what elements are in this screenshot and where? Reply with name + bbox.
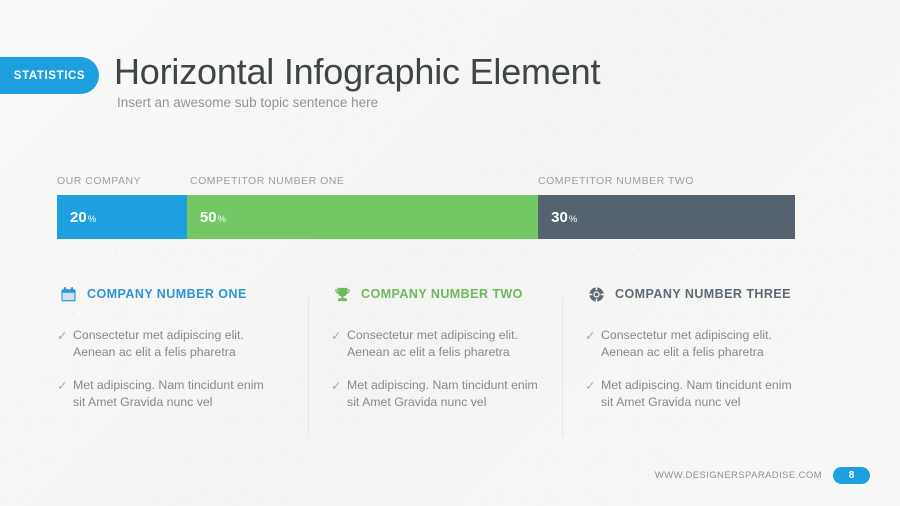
feature-column-one-title: COMPANY NUMBER ONE bbox=[87, 287, 247, 301]
feature-column-three-header: COMPANY NUMBER THREE bbox=[585, 283, 793, 305]
list-item: ✓ Consectetur met adipiscing elit. Aenea… bbox=[585, 327, 793, 360]
list-item-text: Consectetur met adipiscing elit. Aenean … bbox=[347, 327, 518, 360]
list-item-text: Met adipiscing. Nam tincidunt enim sit A… bbox=[601, 377, 792, 410]
check-icon: ✓ bbox=[331, 377, 347, 410]
stacked-bar-chart: OUR COMPANY COMPETITOR NUMBER ONE COMPET… bbox=[57, 175, 795, 239]
bar-category-labels: OUR COMPANY COMPETITOR NUMBER ONE COMPET… bbox=[57, 175, 795, 195]
page-number-badge: 8 bbox=[833, 467, 870, 484]
bar-label-competitor-number-one: COMPETITOR NUMBER ONE bbox=[190, 175, 344, 187]
bar-segment-value-competitor-number-two: 30% bbox=[551, 209, 577, 226]
feature-column-one: COMPANY NUMBER ONE ✓ Consectetur met adi… bbox=[57, 283, 309, 438]
list-item-text: Consectetur met adipiscing elit. Aenean … bbox=[73, 327, 244, 360]
slide-footer: WWW.DESIGNERSPARADISE.COM 8 bbox=[655, 467, 870, 484]
feature-column-three-title: COMPANY NUMBER THREE bbox=[615, 287, 791, 301]
bar-label-competitor-number-two: COMPETITOR NUMBER TWO bbox=[538, 175, 694, 187]
list-item: ✓ Met adipiscing. Nam tincidunt enim sit… bbox=[57, 377, 285, 410]
page-title: Horizontal Infographic Element bbox=[114, 51, 600, 93]
page-number: 8 bbox=[849, 470, 855, 481]
check-icon: ✓ bbox=[57, 377, 73, 410]
feature-column-two: COMPANY NUMBER TWO ✓ Consectetur met adi… bbox=[309, 283, 563, 438]
slide-header: STATISTICS Horizontal Infographic Elemen… bbox=[0, 57, 900, 127]
bar-segment-our-company[interactable]: 20% bbox=[57, 195, 187, 239]
feature-column-one-header: COMPANY NUMBER ONE bbox=[57, 283, 285, 305]
list-item-text: Met adipiscing. Nam tincidunt enim sit A… bbox=[347, 377, 538, 410]
check-icon: ✓ bbox=[57, 327, 73, 360]
statistics-badge: STATISTICS bbox=[0, 57, 99, 94]
check-icon: ✓ bbox=[331, 327, 347, 360]
list-item: ✓ Met adipiscing. Nam tincidunt enim sit… bbox=[331, 377, 539, 410]
feature-column-three-bullets: ✓ Consectetur met adipiscing elit. Aenea… bbox=[585, 327, 793, 410]
list-item-text: Met adipiscing. Nam tincidunt enim sit A… bbox=[73, 377, 264, 410]
bar-segment-competitor-number-one[interactable]: 50% bbox=[187, 195, 538, 239]
list-item: ✓ Consectetur met adipiscing elit. Aenea… bbox=[57, 327, 285, 360]
footer-url[interactable]: WWW.DESIGNERSPARADISE.COM bbox=[655, 470, 822, 481]
feature-column-one-bullets: ✓ Consectetur met adipiscing elit. Aenea… bbox=[57, 327, 285, 410]
bar-segment-competitor-number-two[interactable]: 30% bbox=[538, 195, 795, 239]
feature-column-two-title: COMPANY NUMBER TWO bbox=[361, 287, 523, 301]
bar-track: 20% 50% 30% bbox=[57, 195, 795, 239]
feature-column-three: COMPANY NUMBER THREE ✓ Consectetur met a… bbox=[563, 283, 817, 438]
slide-canvas: STATISTICS Horizontal Infographic Elemen… bbox=[0, 0, 900, 506]
list-item: ✓ Met adipiscing. Nam tincidunt enim sit… bbox=[585, 377, 793, 410]
page-subtitle: Insert an awesome sub topic sentence her… bbox=[117, 95, 378, 110]
trophy-icon bbox=[331, 283, 353, 305]
bar-segment-value-our-company: 20% bbox=[70, 209, 96, 226]
statistics-badge-label: STATISTICS bbox=[14, 70, 85, 82]
feature-column-two-header: COMPANY NUMBER TWO bbox=[331, 283, 539, 305]
check-icon: ✓ bbox=[585, 327, 601, 360]
feature-columns: COMPANY NUMBER ONE ✓ Consectetur met adi… bbox=[57, 283, 817, 438]
list-item: ✓ Consectetur met adipiscing elit. Aenea… bbox=[331, 327, 539, 360]
feature-column-two-bullets: ✓ Consectetur met adipiscing elit. Aenea… bbox=[331, 327, 539, 410]
bar-label-our-company: OUR COMPANY bbox=[57, 175, 141, 187]
lifebuoy-icon bbox=[585, 283, 607, 305]
list-item-text: Consectetur met adipiscing elit. Aenean … bbox=[601, 327, 772, 360]
check-icon: ✓ bbox=[585, 377, 601, 410]
bar-segment-value-competitor-number-one: 50% bbox=[200, 209, 226, 226]
calendar-icon bbox=[57, 283, 79, 305]
